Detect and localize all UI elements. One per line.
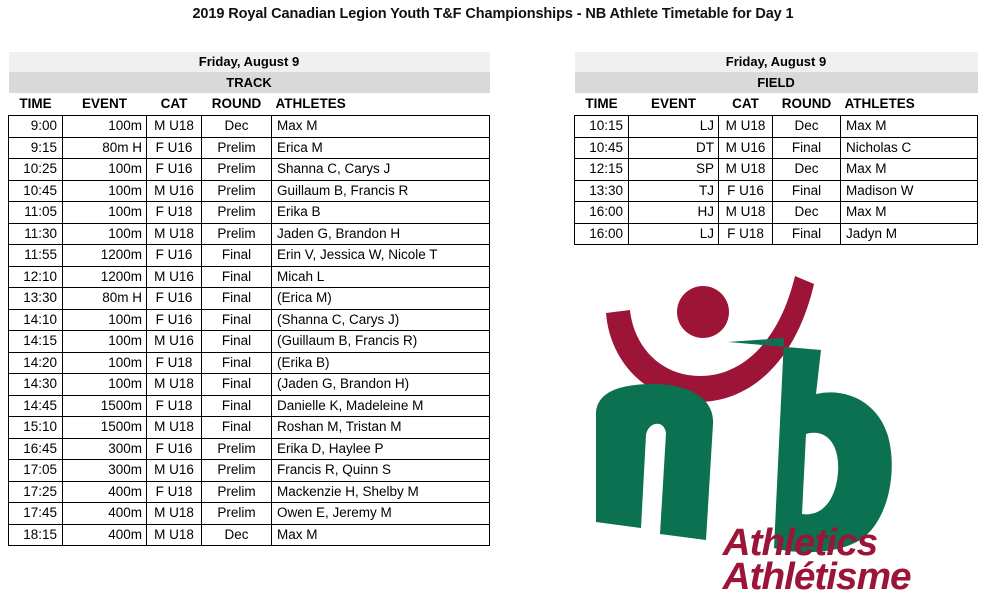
track-cell-round: Final bbox=[202, 245, 272, 267]
track-table-row: 17:25400mF U18PrelimMackenzie H, Shelby … bbox=[9, 481, 490, 503]
field-table-row: 13:30TJF U16FinalMadison W bbox=[575, 180, 978, 202]
track-day-band: Friday, August 9 bbox=[9, 52, 490, 72]
track-cell-cat: M U18 bbox=[147, 503, 202, 525]
track-cell-cat: M U16 bbox=[147, 180, 202, 202]
track-cell-event: 300m bbox=[63, 438, 147, 460]
track-cell-event: 1500m bbox=[63, 417, 147, 439]
track-table-row: 18:15400mM U18DecMax M bbox=[9, 524, 490, 546]
field-cell-event: LJ bbox=[629, 223, 719, 245]
track-cell-athletes: (Erika B) bbox=[272, 352, 490, 374]
track-table-row: 17:45400mM U18PrelimOwen E, Jeremy M bbox=[9, 503, 490, 525]
field-header-athletes: ATHLETES bbox=[841, 93, 978, 116]
field-cell-time: 16:00 bbox=[575, 202, 629, 224]
field-header-time: TIME bbox=[575, 93, 629, 116]
track-cell-round: Prelim bbox=[202, 223, 272, 245]
track-cell-athletes: Francis R, Quinn S bbox=[272, 460, 490, 482]
track-cell-cat: M U16 bbox=[147, 460, 202, 482]
field-cell-athletes: Max M bbox=[841, 159, 978, 181]
track-cell-round: Final bbox=[202, 309, 272, 331]
track-header-athletes: ATHLETES bbox=[272, 93, 490, 116]
track-cell-athletes: Max M bbox=[272, 524, 490, 546]
logo-letter-n bbox=[596, 384, 713, 540]
track-cell-round: Final bbox=[202, 395, 272, 417]
field-header-cat: CAT bbox=[719, 93, 773, 116]
track-cell-cat: M U18 bbox=[147, 524, 202, 546]
track-cell-cat: F U18 bbox=[147, 395, 202, 417]
field-cell-athletes: Jadyn M bbox=[841, 223, 978, 245]
track-cell-round: Dec bbox=[202, 116, 272, 138]
track-cell-round: Final bbox=[202, 352, 272, 374]
track-table-row: 11:551200mF U16FinalErin V, Jessica W, N… bbox=[9, 245, 490, 267]
field-cell-event: LJ bbox=[629, 116, 719, 138]
track-cell-event: 100m bbox=[63, 352, 147, 374]
track-table-row: 11:05100mF U18PrelimErika B bbox=[9, 202, 490, 224]
track-cell-athletes: Erika B bbox=[272, 202, 490, 224]
track-header-event: EVENT bbox=[63, 93, 147, 116]
track-cell-cat: M U16 bbox=[147, 331, 202, 353]
track-cell-time: 14:45 bbox=[9, 395, 63, 417]
track-cell-event: 100m bbox=[63, 116, 147, 138]
track-cell-time: 11:55 bbox=[9, 245, 63, 267]
track-cell-cat: F U18 bbox=[147, 352, 202, 374]
field-column-headers: TIME EVENT CAT ROUND ATHLETES bbox=[575, 93, 978, 116]
track-section-label: TRACK bbox=[9, 72, 490, 93]
track-cell-athletes: Danielle K, Madeleine M bbox=[272, 395, 490, 417]
track-cell-round: Final bbox=[202, 331, 272, 353]
track-cell-event: 80m H bbox=[63, 137, 147, 159]
field-table-row: 10:15LJM U18DecMax M bbox=[575, 116, 978, 138]
field-cell-cat: F U18 bbox=[719, 223, 773, 245]
track-cell-cat: F U16 bbox=[147, 159, 202, 181]
track-table-row: 10:45100mM U16PrelimGuillaum B, Francis … bbox=[9, 180, 490, 202]
track-cell-event: 100m bbox=[63, 331, 147, 353]
track-cell-cat: M U18 bbox=[147, 417, 202, 439]
track-cell-time: 17:05 bbox=[9, 460, 63, 482]
field-cell-athletes: Madison W bbox=[841, 180, 978, 202]
track-cell-time: 14:10 bbox=[9, 309, 63, 331]
track-cell-athletes: Owen E, Jeremy M bbox=[272, 503, 490, 525]
field-cell-cat: M U16 bbox=[719, 137, 773, 159]
track-table-row: 10:25100mF U16PrelimShanna C, Carys J bbox=[9, 159, 490, 181]
track-cell-time: 13:30 bbox=[9, 288, 63, 310]
track-cell-cat: F U16 bbox=[147, 137, 202, 159]
track-cell-athletes: Jaden G, Brandon H bbox=[272, 223, 490, 245]
track-cell-athletes: Micah L bbox=[272, 266, 490, 288]
track-cell-time: 16:45 bbox=[9, 438, 63, 460]
track-cell-cat: F U18 bbox=[147, 481, 202, 503]
track-cell-athletes: Max M bbox=[272, 116, 490, 138]
track-cell-athletes: (Shanna C, Carys J) bbox=[272, 309, 490, 331]
track-table-row: 14:451500mF U18FinalDanielle K, Madelein… bbox=[9, 395, 490, 417]
field-day-band: Friday, August 9 bbox=[575, 52, 978, 72]
track-cell-round: Final bbox=[202, 288, 272, 310]
track-cell-event: 1200m bbox=[63, 245, 147, 267]
track-cell-time: 17:25 bbox=[9, 481, 63, 503]
track-cell-cat: F U18 bbox=[147, 202, 202, 224]
field-cell-time: 12:15 bbox=[575, 159, 629, 181]
track-cell-time: 11:30 bbox=[9, 223, 63, 245]
track-column-headers: TIME EVENT CAT ROUND ATHLETES bbox=[9, 93, 490, 116]
field-header-event: EVENT bbox=[629, 93, 719, 116]
track-cell-round: Prelim bbox=[202, 460, 272, 482]
track-header-cat: CAT bbox=[147, 93, 202, 116]
field-cell-event: DT bbox=[629, 137, 719, 159]
track-table-row: 16:45300mF U16PrelimErika D, Haylee P bbox=[9, 438, 490, 460]
field-cell-round: Dec bbox=[773, 116, 841, 138]
field-table-row: 10:45DTM U16FinalNicholas C bbox=[575, 137, 978, 159]
track-cell-athletes: (Guillaum B, Francis R) bbox=[272, 331, 490, 353]
field-cell-time: 10:15 bbox=[575, 116, 629, 138]
field-cell-cat: F U16 bbox=[719, 180, 773, 202]
field-cell-time: 10:45 bbox=[575, 137, 629, 159]
track-cell-time: 18:15 bbox=[9, 524, 63, 546]
track-cell-time: 10:45 bbox=[9, 180, 63, 202]
field-cell-athletes: Max M bbox=[841, 116, 978, 138]
track-cell-athletes: Shanna C, Carys J bbox=[272, 159, 490, 181]
track-cell-event: 300m bbox=[63, 460, 147, 482]
track-cell-round: Dec bbox=[202, 524, 272, 546]
field-table-row: 12:15SPM U18DecMax M bbox=[575, 159, 978, 181]
track-cell-cat: F U16 bbox=[147, 309, 202, 331]
nb-athletics-logo: Athletics Athlétisme bbox=[588, 272, 978, 597]
field-cell-athletes: Nicholas C bbox=[841, 137, 978, 159]
track-cell-cat: F U16 bbox=[147, 245, 202, 267]
track-cell-cat: M U18 bbox=[147, 374, 202, 396]
track-cell-round: Prelim bbox=[202, 159, 272, 181]
track-cell-round: Prelim bbox=[202, 503, 272, 525]
track-table-row: 11:30100mM U18PrelimJaden G, Brandon H bbox=[9, 223, 490, 245]
page-title: 2019 Royal Canadian Legion Youth T&F Cha… bbox=[0, 6, 986, 22]
field-section-label: FIELD bbox=[575, 72, 978, 93]
track-cell-round: Prelim bbox=[202, 180, 272, 202]
field-cell-time: 16:00 bbox=[575, 223, 629, 245]
field-section-band: FIELD bbox=[575, 72, 978, 93]
track-table-row: 9:1580m HF U16PrelimErica M bbox=[9, 137, 490, 159]
track-cell-athletes: (Erica M) bbox=[272, 288, 490, 310]
field-cell-cat: M U18 bbox=[719, 116, 773, 138]
track-cell-event: 400m bbox=[63, 481, 147, 503]
track-cell-time: 14:30 bbox=[9, 374, 63, 396]
field-cell-round: Dec bbox=[773, 159, 841, 181]
track-cell-event: 100m bbox=[63, 180, 147, 202]
track-cell-round: Prelim bbox=[202, 438, 272, 460]
track-cell-cat: F U16 bbox=[147, 288, 202, 310]
track-cell-time: 12:10 bbox=[9, 266, 63, 288]
track-cell-event: 100m bbox=[63, 309, 147, 331]
track-table-row: 15:101500mM U18FinalRoshan M, Tristan M bbox=[9, 417, 490, 439]
track-cell-event: 1500m bbox=[63, 395, 147, 417]
track-cell-event: 100m bbox=[63, 374, 147, 396]
track-cell-time: 11:05 bbox=[9, 202, 63, 224]
track-cell-time: 14:20 bbox=[9, 352, 63, 374]
track-cell-athletes: (Jaden G, Brandon H) bbox=[272, 374, 490, 396]
track-cell-athletes: Erika D, Haylee P bbox=[272, 438, 490, 460]
track-timetable: Friday, August 9 TRACK TIME EVENT CAT RO… bbox=[8, 52, 490, 546]
track-table-row: 14:30100mM U18Final(Jaden G, Brandon H) bbox=[9, 374, 490, 396]
track-cell-round: Final bbox=[202, 374, 272, 396]
track-cell-time: 15:10 bbox=[9, 417, 63, 439]
field-cell-round: Final bbox=[773, 137, 841, 159]
track-cell-cat: M U16 bbox=[147, 266, 202, 288]
track-day-label: Friday, August 9 bbox=[9, 52, 490, 72]
track-cell-time: 9:00 bbox=[9, 116, 63, 138]
field-day-label: Friday, August 9 bbox=[575, 52, 978, 72]
track-table-row: 14:15100mM U16Final(Guillaum B, Francis … bbox=[9, 331, 490, 353]
field-cell-round: Dec bbox=[773, 202, 841, 224]
track-cell-event: 400m bbox=[63, 503, 147, 525]
field-cell-athletes: Max M bbox=[841, 202, 978, 224]
field-cell-round: Final bbox=[773, 180, 841, 202]
track-section-band: TRACK bbox=[9, 72, 490, 93]
track-header-time: TIME bbox=[9, 93, 63, 116]
track-cell-time: 9:15 bbox=[9, 137, 63, 159]
track-cell-cat: F U16 bbox=[147, 438, 202, 460]
track-cell-event: 100m bbox=[63, 223, 147, 245]
track-table-row: 13:3080m HF U16Final(Erica M) bbox=[9, 288, 490, 310]
field-cell-event: SP bbox=[629, 159, 719, 181]
track-cell-cat: M U18 bbox=[147, 223, 202, 245]
track-cell-athletes: Erin V, Jessica W, Nicole T bbox=[272, 245, 490, 267]
field-table-row: 16:00HJM U18DecMax M bbox=[575, 202, 978, 224]
track-cell-athletes: Guillaum B, Francis R bbox=[272, 180, 490, 202]
field-cell-cat: M U18 bbox=[719, 159, 773, 181]
field-cell-event: HJ bbox=[629, 202, 719, 224]
track-cell-time: 14:15 bbox=[9, 331, 63, 353]
track-cell-athletes: Erica M bbox=[272, 137, 490, 159]
track-cell-event: 100m bbox=[63, 159, 147, 181]
track-cell-athletes: Roshan M, Tristan M bbox=[272, 417, 490, 439]
track-cell-athletes: Mackenzie H, Shelby M bbox=[272, 481, 490, 503]
field-cell-cat: M U18 bbox=[719, 202, 773, 224]
field-cell-event: TJ bbox=[629, 180, 719, 202]
track-table-row: 14:20100mF U18Final(Erika B) bbox=[9, 352, 490, 374]
field-table-body: 10:15LJM U18DecMax M10:45DTM U16FinalNic… bbox=[575, 116, 978, 245]
track-cell-cat: M U18 bbox=[147, 116, 202, 138]
athlete-head-icon bbox=[677, 286, 729, 338]
track-cell-round: Prelim bbox=[202, 481, 272, 503]
logo-athletisme-text: Athlétisme bbox=[722, 555, 912, 597]
track-cell-event: 100m bbox=[63, 202, 147, 224]
track-cell-round: Prelim bbox=[202, 202, 272, 224]
track-cell-event: 1200m bbox=[63, 266, 147, 288]
field-timetable: Friday, August 9 FIELD TIME EVENT CAT RO… bbox=[574, 52, 978, 245]
track-table-row: 12:101200mM U16FinalMicah L bbox=[9, 266, 490, 288]
track-header-round: ROUND bbox=[202, 93, 272, 116]
field-cell-round: Final bbox=[773, 223, 841, 245]
track-cell-event: 400m bbox=[63, 524, 147, 546]
field-table-row: 16:00LJF U18FinalJadyn M bbox=[575, 223, 978, 245]
track-cell-time: 10:25 bbox=[9, 159, 63, 181]
field-cell-time: 13:30 bbox=[575, 180, 629, 202]
track-cell-round: Final bbox=[202, 266, 272, 288]
track-cell-time: 17:45 bbox=[9, 503, 63, 525]
field-header-round: ROUND bbox=[773, 93, 841, 116]
track-cell-event: 80m H bbox=[63, 288, 147, 310]
track-cell-round: Prelim bbox=[202, 137, 272, 159]
track-cell-round: Final bbox=[202, 417, 272, 439]
track-table-row: 9:00100mM U18DecMax M bbox=[9, 116, 490, 138]
track-table-row: 17:05300mM U16PrelimFrancis R, Quinn S bbox=[9, 460, 490, 482]
track-table-body: 9:00100mM U18DecMax M9:1580m HF U16Preli… bbox=[9, 116, 490, 546]
track-table-row: 14:10100mF U16Final(Shanna C, Carys J) bbox=[9, 309, 490, 331]
